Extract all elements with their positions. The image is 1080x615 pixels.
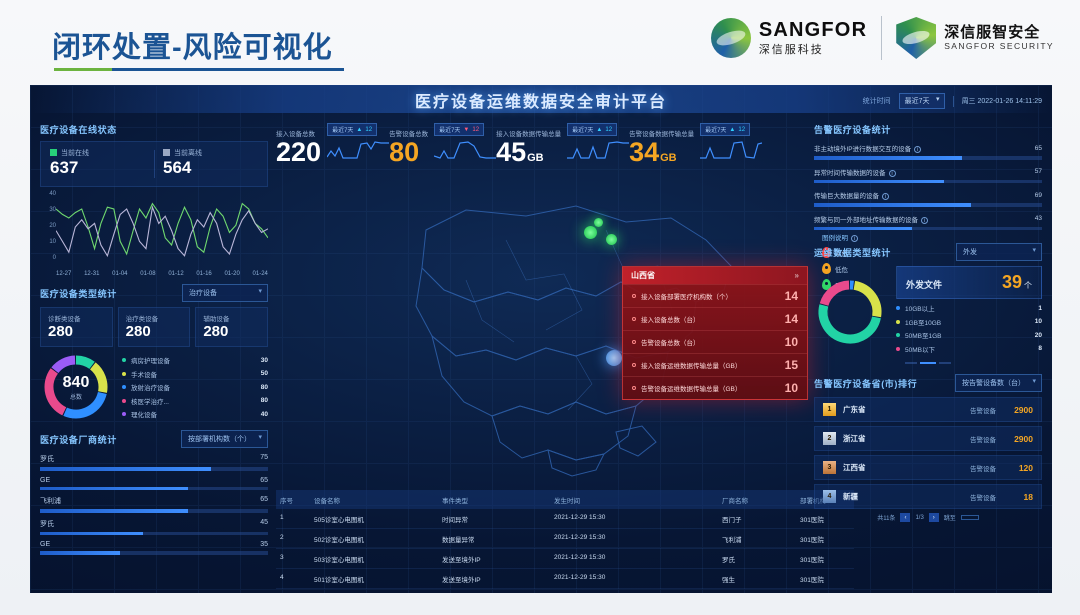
tooltip-province: 山西省 — [631, 270, 655, 281]
column-header: 设备名称 — [314, 495, 442, 505]
carousel-dot[interactable] — [939, 362, 951, 364]
right-column: 告警医疗设备统计 非主动境外IP进行数据交互的设备i65 异常时间传输数据的设备… — [814, 123, 1042, 529]
time-range-label: 统计时间 — [863, 96, 891, 106]
rank-province: 新疆 — [843, 491, 963, 502]
carousel-dot-active[interactable] — [920, 362, 936, 364]
rank-pager-goto: 跳至 — [944, 513, 956, 522]
kpi-sparkline: 最近7天▼12 — [434, 119, 496, 166]
vendor-stats-section: 医疗设备厂商统计 按部署机构数（个） 罗氏75 GE65 飞利浦65 — [40, 430, 268, 555]
slide-root: 闭环处置-风险可视化 SANGFOR 深信服科技 深信服智安全 SANGFOR … — [0, 0, 1080, 615]
kpi-sparkline: 最近7天▲12 — [700, 119, 762, 166]
device-type-card: 诊断类设备 280 — [40, 307, 113, 347]
legend-value: 1 — [1038, 305, 1042, 312]
cell-device: 502诊室心电图机 — [314, 534, 442, 544]
trend-y-axis: 40 30 20 10 0 — [40, 191, 56, 261]
china-map[interactable]: 图例说明i 高危 低危 正常 山西省 » 接入设备部署医疗机构数（个）14 接入… — [276, 170, 854, 488]
legend-dot-icon — [122, 358, 126, 362]
ops-highlight-value: 39 — [1002, 272, 1022, 292]
kpi-card: 接入设备总数 220 最近7天▲12 — [276, 119, 389, 166]
device-type-section: 医疗设备类型统计 治疗设备 诊断类设备 280 治疗类设备 280 辅助设备 2… — [40, 284, 268, 423]
legend-item: 手术设备50 — [122, 369, 268, 379]
trend-lines — [56, 191, 268, 263]
ops-data-select[interactable]: 外发 — [956, 243, 1042, 261]
alarm-stats-section: 告警医疗设备统计 非主动境外IP进行数据交互的设备i65 异常时间传输数据的设备… — [814, 123, 1042, 230]
x-tick-6: 01-20 — [224, 271, 239, 277]
kpi-card: 接入设备数据传输总量 45GB 最近7天▲12 — [496, 119, 629, 166]
tooltip-value: 14 — [785, 289, 798, 303]
legend-label: 1GB至10GB — [905, 317, 1035, 327]
rank-item[interactable]: 2 浙江省 告警设备 2900 — [814, 426, 1042, 451]
alarm-label: 频繁与同一外部地址传输数据的设备 — [814, 217, 918, 224]
x-tick-1: 12-31 — [84, 271, 99, 277]
ops-data-section: 运维数据类型统计 外发 外发文件 39个 10GB以上1 1GB至10GB10 — [814, 243, 1042, 364]
tooltip-header: 山西省 » — [623, 267, 807, 284]
cell-org: 301医院 — [800, 554, 850, 564]
rank-pager-page: 1/3 — [915, 515, 923, 521]
tooltip-row: 接入设备部署医疗机构数（个）14 — [623, 284, 807, 307]
map-marker-green[interactable] — [584, 226, 597, 239]
legend-item: 核医学治疗...80 — [122, 396, 268, 406]
vendor-value: 65 — [260, 477, 268, 484]
legend-value: 10 — [1035, 318, 1042, 325]
x-tick-5: 01-16 — [196, 271, 211, 277]
carousel-dots[interactable] — [814, 362, 1042, 364]
bullet-icon — [632, 294, 636, 298]
dashboard-header-controls: 统计时间 最近7天 周三 2022-01-26 14:11:29 — [863, 93, 1042, 109]
rank-value: 2900 — [1003, 434, 1033, 444]
rank-value: 2900 — [1003, 405, 1033, 415]
rank-item[interactable]: 3 江西省 告警设备 120 — [814, 455, 1042, 480]
sangfor-logo-cn: 深信服科技 — [759, 41, 867, 57]
cell-vendor: 强生 — [722, 574, 800, 584]
alarm-stat-item: 非主动境外IP进行数据交互的设备i65 — [814, 143, 1042, 160]
rank-metric-label: 告警设备 — [970, 463, 996, 473]
rank-metric-label: 告警设备 — [970, 434, 996, 444]
legend-item: 50MB至1GB20 — [896, 330, 1042, 340]
legend-value: 80 — [261, 397, 268, 404]
vendor-name: GE — [40, 541, 50, 548]
online-status-section: 医疗设备在线状态 当前在线 637 当前离线 564 40 30 — [40, 123, 268, 277]
trend-x-axis: 12-27 12-31 01-04 01-08 01-12 01-16 01-2… — [56, 271, 268, 277]
province-rank-title: 告警医疗设备省(市)排行 — [814, 377, 917, 390]
legend-dot-icon — [896, 320, 900, 324]
ops-data-title: 运维数据类型统计 — [814, 246, 891, 259]
header-divider — [953, 96, 954, 107]
vendor-name: 罗氏 — [40, 454, 54, 464]
rank-pager-prev[interactable]: ‹ — [900, 513, 910, 522]
offline-card: 当前离线 564 — [154, 142, 267, 186]
cell-org: 301医院 — [800, 574, 850, 584]
rank-metric-label: 告警设备 — [970, 492, 996, 502]
rank-item[interactable]: 4 新疆 告警设备 18 — [814, 484, 1042, 509]
legend-item: 病房护理设备30 — [122, 355, 268, 365]
vendor-value: 35 — [260, 541, 268, 548]
legend-label: 50MB以下 — [905, 344, 1038, 354]
cell-time: 2021-12-29 15:30 — [554, 514, 722, 524]
legend-dot-icon — [122, 372, 126, 376]
tooltip-row: 告警设备总数（台）10 — [623, 330, 807, 353]
table-row[interactable]: 4 501诊室心电图机 发送至境外IP 2021-12-29 15:30 强生 … — [276, 569, 854, 589]
map-marker-green[interactable] — [606, 234, 617, 245]
tooltip-label: 接入设备总数（台） — [641, 314, 700, 324]
map-marker-blue[interactable] — [606, 350, 622, 366]
cell-event-type: 发送至境外IP — [442, 574, 554, 584]
ops-legend: 外发文件 39个 10GB以上1 1GB至10GB10 50MB至1GB20 5… — [896, 266, 1042, 357]
cell-index: 3 — [280, 554, 314, 564]
device-donut-section: 840 总数 病房护理设备30 手术设备50 放射治疗设备80 核医学治疗...… — [40, 351, 268, 423]
rank-badge: 3 — [823, 461, 836, 474]
ops-donut-chart — [814, 276, 886, 348]
cell-device: 501诊室心电图机 — [314, 574, 442, 584]
page-title: 闭环处置-风险可视化 — [52, 24, 333, 66]
alarm-value: 65 — [1035, 145, 1042, 152]
ops-donut-section: 外发文件 39个 10GB以上1 1GB至10GB10 50MB至1GB20 5… — [814, 266, 1042, 357]
kpi-value: 45GB — [496, 138, 561, 166]
x-tick-2: 01-04 — [112, 271, 127, 277]
rank-badge: 1 — [823, 403, 836, 416]
cell-event-type: 时间异常 — [442, 514, 554, 524]
kpi-row: 接入设备总数 220 最近7天▲12 告警设备总数 80 最近7天▼12 — [276, 119, 854, 166]
online-value: 637 — [50, 159, 145, 178]
legend-value: 20 — [1035, 332, 1042, 339]
legend-dot-icon — [122, 412, 126, 416]
alarm-label: 非主动境外IP进行数据交互的设备 — [814, 146, 911, 153]
event-table: 序号 设备名称 事件类型 发生时间 厂商名称 部署机构 1 505诊室心电图机 … — [276, 490, 854, 593]
kpi-value: 80 — [389, 138, 428, 166]
kpi-unit: GB — [660, 152, 677, 164]
title-rule — [54, 68, 344, 71]
kpi-sparkline: 最近7天▲12 — [567, 119, 629, 166]
security-logo-en: SANGFOR SECURITY — [944, 41, 1054, 51]
sparkline-svg — [327, 139, 389, 161]
cell-org: 301医院 — [800, 534, 850, 544]
legend-dot-icon — [122, 385, 126, 389]
legend-dot-icon — [122, 399, 126, 403]
legend-value: 50 — [261, 370, 268, 377]
legend-dot-icon — [896, 347, 900, 351]
legend-label: 10GB以上 — [905, 303, 1038, 313]
trend-up-icon: ▲ — [356, 127, 362, 133]
tooltip-value: 10 — [785, 381, 798, 395]
offline-label: 当前离线 — [174, 150, 202, 157]
rank-value: 18 — [1003, 492, 1033, 502]
sangfor-security-logo: 深信服智安全 SANGFOR SECURITY — [896, 17, 1054, 59]
alarm-stat-item: 异常时间传输数据的设备i57 — [814, 167, 1042, 184]
device-type-label: 诊断类设备 — [48, 313, 105, 323]
kpi-trend-label: 最近7天 — [572, 125, 593, 134]
legend-value: 40 — [261, 411, 268, 418]
alarm-stats-title: 告警医疗设备统计 — [814, 123, 891, 136]
tooltip-label: 接入设备部署医疗机构数（个） — [641, 291, 732, 301]
legend-item: 放射治疗设备80 — [122, 382, 268, 392]
province-rank-select[interactable]: 按告警设备数（台） — [955, 374, 1042, 392]
device-type-label: 治疗类设备 — [126, 313, 183, 323]
cell-time: 2021-12-29 15:30 — [554, 554, 722, 564]
legend-dot-icon — [896, 333, 900, 337]
tooltip-row: 告警设备运维数据传输总量（GB）10 — [623, 376, 807, 399]
rank-province: 江西省 — [843, 462, 963, 473]
ops-highlight-label: 外发文件 — [906, 278, 942, 291]
vendor-stats-select[interactable]: 按部署机构数（个） — [181, 430, 268, 448]
vendor-bar-item: 飞利浦65 — [40, 496, 268, 513]
column-header: 事件类型 — [442, 495, 554, 505]
rank-pager-input[interactable] — [961, 515, 979, 520]
tooltip-label: 告警设备运维数据传输总量（GB） — [641, 383, 741, 393]
rank-item[interactable]: 1 广东省 告警设备 2900 — [814, 397, 1042, 422]
rank-badge: 4 — [823, 490, 836, 503]
vendor-bar-item: 罗氏75 — [40, 454, 268, 471]
table-header: 序号 设备名称 事件类型 发生时间 厂商名称 部署机构 — [276, 490, 854, 509]
trend-up-icon: ▲ — [729, 127, 735, 133]
alarm-label: 异常时间传输数据的设备 — [814, 170, 886, 177]
table-row[interactable]: 1 505诊室心电图机 时间异常 2021-12-29 15:30 西门子 30… — [276, 509, 854, 529]
cell-device: 503诊室心电图机 — [314, 554, 442, 564]
legend-value: 80 — [261, 384, 268, 391]
bullet-icon — [632, 317, 636, 321]
legend-item: 1GB至10GB10 — [896, 317, 1042, 327]
column-header: 序号 — [280, 495, 314, 505]
device-type-title: 医疗设备类型统计 — [40, 287, 117, 300]
province-rank-section: 告警医疗设备省(市)排行 按告警设备数（台） 1 广东省 告警设备 2900 2… — [814, 374, 1042, 522]
sparkline-svg — [567, 139, 629, 161]
legend-item: 理化设备40 — [122, 409, 268, 419]
legend-value: 30 — [261, 357, 268, 364]
rank-metric-label: 告警设备 — [970, 405, 996, 415]
shield-icon — [896, 17, 936, 59]
y-tick-0: 40 — [49, 191, 56, 197]
device-type-card: 治疗类设备 280 — [118, 307, 191, 347]
kpi-value: 220 — [276, 138, 321, 166]
left-column: 医疗设备在线状态 当前在线 637 当前离线 564 40 30 — [40, 123, 268, 562]
sparkline-svg — [700, 139, 762, 161]
legend-label: 核医学治疗... — [131, 396, 261, 406]
vendor-bar-item: GE65 — [40, 477, 268, 491]
kpi-trend-label: 最近7天 — [439, 125, 460, 134]
sangfor-logo: SANGFOR 深信服科技 — [711, 18, 867, 58]
vendor-name: 罗氏 — [40, 519, 54, 529]
device-donut-chart: 840 总数 — [40, 351, 112, 423]
y-tick-3: 10 — [49, 239, 56, 245]
security-logo-cn: 深信服智安全 — [944, 25, 1054, 42]
sparkline-svg — [434, 139, 496, 161]
tooltip-row: 接入设备运维数据传输总量（GB）15 — [623, 353, 807, 376]
y-tick-2: 20 — [49, 223, 56, 229]
device-type-card: 辅助设备 280 — [195, 307, 268, 347]
kpi-trend-label: 最近7天 — [705, 125, 726, 134]
x-tick-0: 12-27 — [56, 271, 71, 277]
kpi-card: 告警设备总数 80 最近7天▼12 — [389, 119, 496, 166]
kpi-trend-value: 12 — [472, 127, 479, 133]
vendor-value: 75 — [260, 454, 268, 464]
bullet-icon — [632, 340, 636, 344]
legend-label: 放射治疗设备 — [131, 382, 261, 392]
legend-label: 病房护理设备 — [131, 355, 261, 365]
title-rule-blue — [112, 68, 344, 71]
globe-icon — [711, 18, 751, 58]
tooltip-label: 告警设备总数（台） — [641, 337, 700, 347]
rank-pager: 共11条 ‹ 1/3 › 跳至 — [814, 513, 1042, 522]
vendor-stats-title: 医疗设备厂商统计 — [40, 433, 117, 446]
vendor-bar-item: 罗氏45 — [40, 519, 268, 536]
rank-province: 浙江省 — [843, 433, 963, 444]
trend-up-icon: ▲ — [596, 127, 602, 133]
cell-time: 2021-12-29 15:30 — [554, 574, 722, 584]
alarm-value: 57 — [1035, 168, 1042, 175]
ops-highlight-card: 外发文件 39个 — [896, 266, 1042, 299]
tooltip-row: 接入设备总数（台）14 — [623, 307, 807, 330]
vendor-bar-list: 罗氏75 GE65 飞利浦65 罗氏45 — [40, 454, 268, 555]
ops-highlight-unit: 个 — [1024, 281, 1032, 290]
info-icon[interactable]: i — [921, 217, 928, 224]
carousel-dot[interactable] — [905, 362, 917, 364]
table-row[interactable]: 5 504诊室心电图机 频繁传输 2021-12-29 15:30 GE 301… — [276, 589, 854, 593]
device-type-cards: 诊断类设备 280 治疗类设备 280 辅助设备 280 — [40, 307, 268, 347]
online-trend-chart: 40 30 20 10 0 12-27 12-31 01-04 01-08 01… — [40, 191, 268, 277]
cell-index: 2 — [280, 534, 314, 544]
tooltip-label: 接入设备运维数据传输总量（GB） — [641, 360, 741, 370]
kpi-trend-value: 12 — [605, 127, 612, 133]
device-type-select[interactable]: 治疗设备 — [182, 284, 268, 302]
cell-event-type: 数据量异常 — [442, 534, 554, 544]
rank-pager-next[interactable]: › — [929, 513, 939, 522]
device-type-value: 280 — [126, 323, 183, 341]
info-icon[interactable]: i — [914, 146, 921, 153]
x-tick-3: 01-08 — [140, 271, 155, 277]
cell-vendor: 西门子 — [722, 514, 800, 524]
device-type-value: 280 — [203, 323, 260, 341]
kpi-value: 34GB — [629, 138, 694, 166]
device-type-value: 280 — [48, 323, 105, 341]
x-tick-4: 01-12 — [168, 271, 183, 277]
cell-index: 4 — [280, 574, 314, 584]
alarm-stat-item: 传输巨大数据量的设备i69 — [814, 190, 1042, 207]
legend-label: 手术设备 — [131, 369, 261, 379]
tooltip-value: 10 — [785, 335, 798, 349]
donut-total-value: 840 — [63, 374, 90, 392]
info-icon[interactable]: i — [889, 170, 896, 177]
rank-badge: 2 — [823, 432, 836, 445]
device-type-label: 辅助设备 — [203, 313, 260, 323]
column-header: 厂商名称 — [722, 495, 800, 505]
rank-province: 广东省 — [843, 404, 963, 415]
vendor-value: 45 — [260, 519, 268, 529]
alarm-label: 传输巨大数据量的设备 — [814, 193, 879, 200]
legend-value: 8 — [1038, 345, 1042, 352]
kpi-sparkline: 最近7天▲12 — [327, 119, 389, 166]
vendor-name: GE — [40, 477, 50, 484]
table-body: 1 505诊室心电图机 时间异常 2021-12-29 15:30 西门子 30… — [276, 509, 854, 593]
alarm-stat-item: 频繁与同一外部地址传输数据的设备i43 — [814, 214, 1042, 231]
online-status-cards: 当前在线 637 当前离线 564 — [40, 141, 268, 187]
cell-event-type: 发送至境外IP — [442, 554, 554, 564]
online-dot-icon — [50, 149, 57, 156]
kpi-trend-label: 最近7天 — [332, 125, 353, 134]
legend-item: 50MB以下8 — [896, 344, 1042, 354]
cell-vendor: 飞利浦 — [722, 534, 800, 544]
info-icon[interactable]: i — [882, 193, 889, 200]
bullet-icon — [632, 363, 636, 367]
map-marker-green[interactable] — [594, 218, 603, 227]
kpi-trend-value: 12 — [738, 127, 745, 133]
tooltip-value: 15 — [785, 358, 798, 372]
legend-label: 50MB至1GB — [905, 330, 1035, 340]
bullet-icon — [632, 386, 636, 390]
kpi-card: 告警设备数据传输总量 34GB 最近7天▲12 — [629, 119, 762, 166]
table-row[interactable]: 2 502诊室心电图机 数据量异常 2021-12-29 15:30 飞利浦 3… — [276, 529, 854, 549]
legend-item: 10GB以上1 — [896, 303, 1042, 313]
rank-pager-total: 共11条 — [877, 513, 895, 522]
vendor-bar-item: GE35 — [40, 541, 268, 555]
map-tooltip: 山西省 » 接入设备部署医疗机构数（个）14 接入设备总数（台）14 告警设备总… — [622, 266, 808, 400]
kpi-unit: GB — [527, 152, 544, 164]
cell-vendor: 罗氏 — [722, 554, 800, 564]
donut-total-label: 总数 — [70, 392, 82, 401]
cell-time: 2021-12-29 15:30 — [554, 534, 722, 544]
trend-down-icon: ▼ — [463, 127, 469, 133]
title-rule-green — [54, 68, 112, 71]
kpi-trend-value: 12 — [365, 127, 372, 133]
current-datetime: 周三 2022-01-26 14:11:29 — [962, 96, 1042, 106]
dashboard: 医疗设备运维数据安全审计平台 统计时间 最近7天 周三 2022-01-26 1… — [30, 85, 1052, 593]
offline-dot-icon — [163, 149, 170, 156]
online-status-title: 医疗设备在线状态 — [40, 123, 117, 136]
center-column: 接入设备总数 220 最近7天▲12 告警设备总数 80 最近7天▼12 — [276, 119, 854, 593]
logo-divider — [881, 16, 882, 60]
tooltip-chevron-icon[interactable]: » — [795, 271, 799, 280]
time-range-select[interactable]: 最近7天 — [899, 93, 945, 109]
x-tick-7: 01-24 — [253, 271, 268, 277]
y-tick-1: 30 — [49, 207, 56, 213]
device-donut-legend: 病房护理设备30 手术设备50 放射治疗设备80 核医学治疗...80 理化设备… — [122, 352, 268, 423]
alarm-value: 43 — [1035, 215, 1042, 222]
brand-logos: SANGFOR 深信服科技 深信服智安全 SANGFOR SECURITY — [711, 16, 1054, 60]
tooltip-value: 14 — [785, 312, 798, 326]
online-card: 当前在线 637 — [41, 142, 154, 186]
cell-device: 505诊室心电图机 — [314, 514, 442, 524]
vendor-value: 65 — [260, 496, 268, 506]
column-header: 发生时间 — [554, 495, 722, 505]
legend-label: 理化设备 — [131, 409, 261, 419]
legend-dot-icon — [896, 306, 900, 310]
rank-value: 120 — [1003, 463, 1033, 473]
alarm-value: 69 — [1035, 192, 1042, 199]
cell-index: 1 — [280, 514, 314, 524]
table-row[interactable]: 3 503诊室心电图机 发送至境外IP 2021-12-29 15:30 罗氏 … — [276, 549, 854, 569]
vendor-name: 飞利浦 — [40, 496, 61, 506]
offline-value: 564 — [163, 159, 258, 178]
sangfor-logo-en: SANGFOR — [759, 20, 867, 41]
online-label: 当前在线 — [61, 150, 89, 157]
